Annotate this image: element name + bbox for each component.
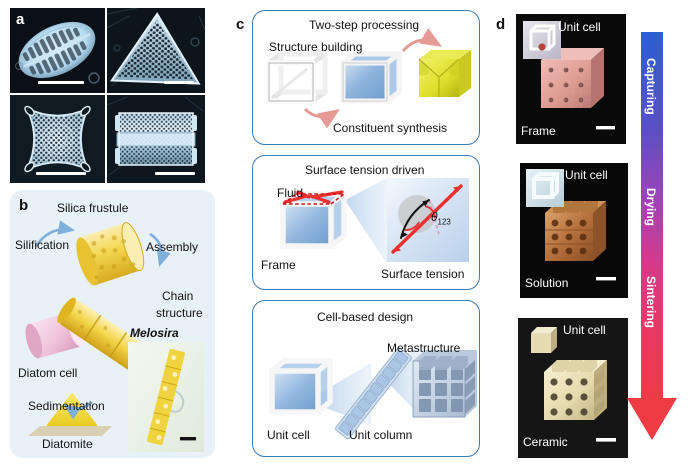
scale-bar <box>164 81 194 84</box>
micrograph-triangular-diatom <box>107 8 205 93</box>
label-silification: Silification <box>15 238 69 252</box>
label-frame: Frame <box>261 258 296 272</box>
scale-bar <box>155 172 195 175</box>
micrograph-cruciform-diatom <box>10 95 105 183</box>
title-cell-based-design: Cell-based design <box>317 310 413 324</box>
label-surface-tension: Surface tension <box>381 267 464 281</box>
label-stage-ceramic: Ceramic <box>523 435 568 449</box>
title-surface-tension-driven: Surface tension driven <box>305 163 424 177</box>
label-unit-cell-inset-solution: Unit cell <box>565 168 608 182</box>
micrograph-cylindrical-diatom <box>107 95 205 183</box>
label-constituent-synthesis: Constituent synthesis <box>333 121 447 135</box>
photo-stage-ceramic: Unit cell Ceramic <box>518 318 628 458</box>
panel-c-letter: c <box>236 16 244 33</box>
label-structure-building: Structure building <box>269 40 362 54</box>
photo-stage-solution: Unit cell Solution <box>520 163 628 298</box>
panel-a-letter: a <box>16 11 24 28</box>
label-unit-cell: Unit cell <box>267 428 310 442</box>
label-unit-column: Unit column <box>349 428 412 442</box>
process-step-drying: Drying <box>644 188 658 226</box>
process-step-capturing: Capturing <box>644 58 658 115</box>
panel-a: a <box>10 8 205 183</box>
label-stage-frame: Frame <box>521 124 556 138</box>
label-unit-cell-inset-ceramic: Unit cell <box>563 323 606 337</box>
label-sedimentation: Sedimentation <box>28 399 105 413</box>
process-step-sintering: Sintering <box>644 276 658 328</box>
label-fluid: Fluid <box>277 186 303 200</box>
panel-c-box-cell-based-design: Cell-based design Unit cell Unit column … <box>252 300 480 457</box>
label-chain-structure-line2: structure <box>156 306 203 320</box>
figure-root: a <box>0 0 696 465</box>
title-two-step-processing: Two-step processing <box>309 18 419 32</box>
label-stage-solution: Solution <box>525 276 568 290</box>
process-arrow-head <box>627 398 677 440</box>
label-melosira: Melosira <box>130 326 179 340</box>
panel-c-box-two-step-processing: Two-step processing Structure building C… <box>252 10 480 145</box>
panel-b-letter: b <box>19 197 28 214</box>
label-metastructure: Metastructure <box>387 341 460 355</box>
label-assembly: Assembly <box>146 240 198 254</box>
scale-bar <box>38 81 84 84</box>
panel-b: b <box>10 190 215 458</box>
label-diatomite: Diatomite <box>42 437 93 451</box>
photo-stage-frame: Unit cell Frame <box>516 14 626 144</box>
label-silica-frustule: Silica frustule <box>57 201 128 215</box>
scale-bar <box>36 172 86 175</box>
label-unit-cell-inset-frame: Unit cell <box>558 20 601 34</box>
label-chain-structure-line1: Chain <box>162 289 193 303</box>
theta-subscript: 123 <box>438 217 451 226</box>
panel-d-letter: d <box>496 16 505 33</box>
panel-c-box-surface-tension: Surface tension driven Fluid Frame Surfa… <box>252 155 480 290</box>
label-theta-angle: θ123 <box>431 210 451 226</box>
label-diatom-cell: Diatom cell <box>18 366 77 380</box>
